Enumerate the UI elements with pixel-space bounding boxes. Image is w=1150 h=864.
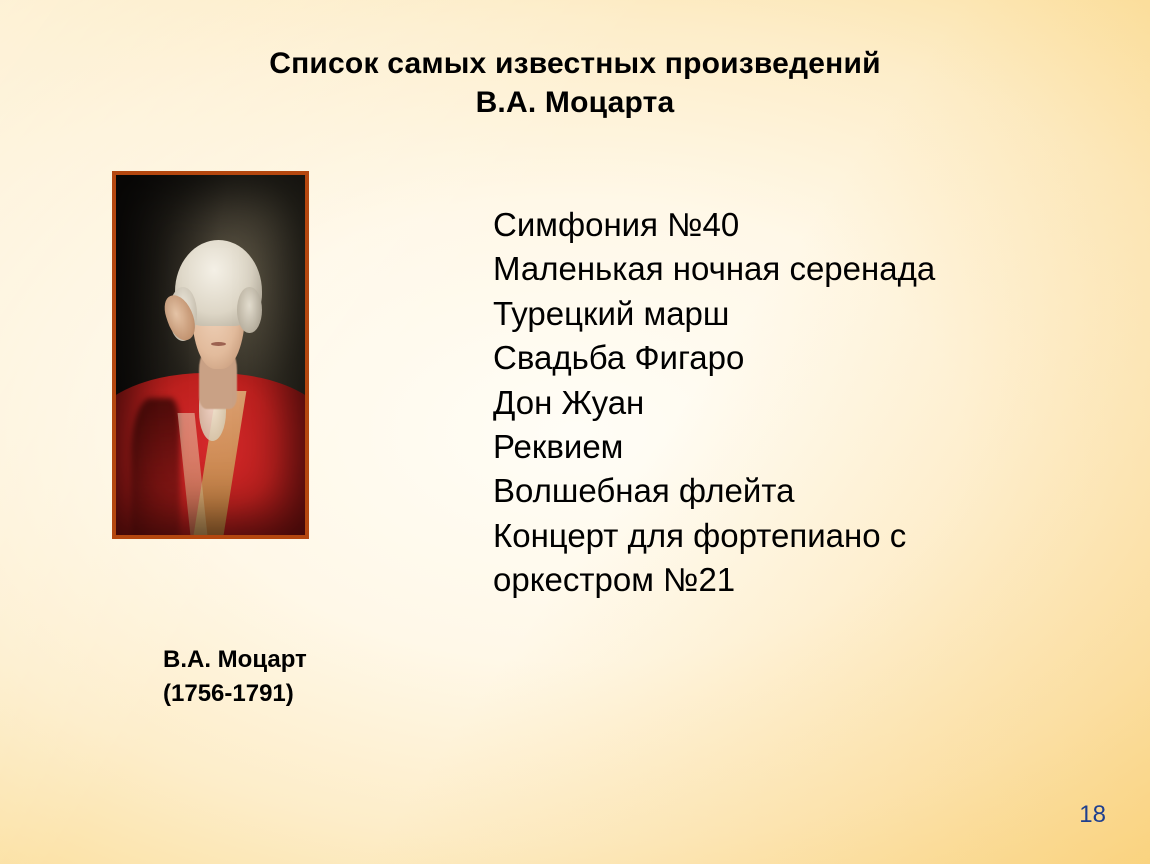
portrait-vignette [116,175,305,535]
list-item: Турецкий марш [493,292,1113,336]
list-item: Свадьба Фигаро [493,336,1113,380]
title-line-2: В.А. Моцарта [0,83,1150,122]
list-item: Дон Жуан [493,381,1113,425]
works-list: Симфония №40 Маленькая ночная серенада Т… [493,203,1113,602]
list-item: Маленькая ночная серенада [493,247,1113,291]
portrait-caption: В.А. Моцарт (1756-1791) [163,643,307,711]
page-title: Список самых известных произведений В.А.… [0,44,1150,122]
caption-name: В.А. Моцарт [163,643,307,677]
portrait-frame [112,171,309,539]
slide: Список самых известных произведений В.А.… [0,0,1150,864]
title-line-1: Список самых известных произведений [269,47,881,80]
list-item: Волшебная флейта [493,469,1113,513]
caption-dates: (1756-1791) [163,677,307,711]
portrait-of-mozart [116,175,305,535]
page-number: 18 [1079,801,1106,829]
list-item: Реквием [493,425,1113,469]
list-item: Симфония №40 [493,203,1113,247]
list-item: Концерт для фортепиано с оркестром №21 [493,514,1023,603]
